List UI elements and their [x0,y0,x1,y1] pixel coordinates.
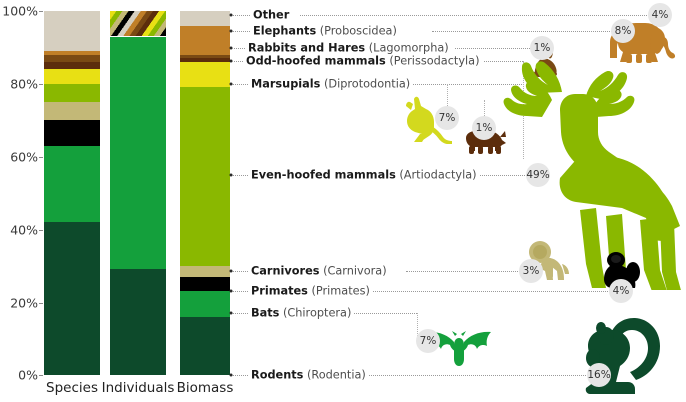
y-tick-20 [39,303,43,304]
label-other: Other [250,9,292,22]
bar-segment-primates[interactable] [44,120,100,145]
leader-stub-other [232,15,250,16]
y-tick-80 [39,84,43,85]
label-rodents-name: Rodents [251,369,303,382]
label-rabbits-name: Rabbits and Hares [248,42,365,55]
bar-segment-bats[interactable] [44,146,100,222]
badge-elephants: 8% [611,19,635,43]
leader-primates [372,291,610,292]
label-elephants-paren: (Proboscidea) [320,25,397,38]
y-tick-label-100: 100% [2,4,38,19]
bar-segment-elephants[interactable] [180,26,230,55]
bar-individuals[interactable] [110,11,166,375]
badge-primates: 4% [609,279,633,303]
bar-segment-minor-group[interactable] [110,11,166,36]
leader-stub-marsupials [232,84,248,85]
label-marsupials-name: Marsupials [251,78,320,91]
bar-segment-carnivores[interactable] [180,266,230,277]
leader-stub-rabbits [232,48,245,49]
label-primates: Primates (Primates) [248,285,373,298]
bar-segment-even-hoofed-mammals[interactable] [180,87,230,265]
label-carnivores: Carnivores (Carnivora) [248,265,390,278]
leader-stub-carnivores [232,271,248,272]
label-elephants: Elephants (Proboscidea) [250,25,400,38]
leader-stub-oddhoofed [232,61,243,62]
label-evenhoofed-paren: (Artiodactyla) [399,169,476,182]
label-rodents: Rodents (Rodentia) [248,369,369,382]
y-tick-40 [39,230,43,231]
deer-icon [470,22,686,290]
leader-stub-elephants [232,31,250,32]
bar-title-individuals: Individuals [102,380,175,396]
bar-segment-marsupials[interactable] [180,62,230,87]
bar-species[interactable] [44,11,100,375]
bar-segment-bats[interactable] [110,37,166,270]
badge-carnivores: 3% [519,259,543,283]
leader-stub-rodents [232,375,248,376]
label-carnivores-name: Carnivores [251,265,319,278]
label-rabbits-paren: (Lagomorpha) [369,42,449,55]
infographic-root: 100% 80% 60% 40% 20% 0% Species Individu… [0,0,686,402]
leader-rodents [360,375,586,376]
bar-segment-other[interactable] [44,11,100,51]
y-tick-label-80: 80% [10,77,38,92]
label-other-name: Other [253,9,289,22]
leader-bats [347,313,417,314]
leader-other [300,15,647,16]
label-oddhoofed: Odd-hoofed mammals (Perissodactyla) [243,55,483,68]
y-tick-label-20: 20% [10,296,38,311]
y-tick-100 [39,11,43,12]
y-axis: 100% 80% 60% 40% 20% 0% [0,0,38,402]
label-primates-name: Primates [251,285,308,298]
y-tick-label-0: 0% [18,368,38,383]
bar-segment-carnivores[interactable] [44,102,100,120]
badge-other: 4% [648,3,672,27]
bar-segment-odd-hoofed-mammals[interactable] [44,62,100,69]
label-elephants-name: Elephants [253,25,316,38]
leader-stub-bats [232,313,248,314]
badge-rodents: 16% [587,363,611,387]
label-rabbits: Rabbits and Hares (Lagomorpha) [245,42,452,55]
bar-biomass[interactable] [180,11,230,375]
label-marsupials: Marsupials (Diprotodontia) [248,78,413,91]
y-tick-0 [39,375,43,376]
bar-segment-rodents[interactable] [44,222,100,375]
y-tick-label-60: 60% [10,150,38,165]
bar-segment-bats[interactable] [180,291,230,316]
label-bats-name: Bats [251,307,279,320]
bar-segment-elephants[interactable] [44,51,100,55]
badge-marsupials: 7% [435,106,459,130]
label-bats: Bats (Chiroptera) [248,307,354,320]
bar-segment-rodents[interactable] [180,317,230,375]
bar-segment-rodents[interactable] [110,269,166,375]
label-oddhoofed-name: Odd-hoofed mammals [246,55,386,68]
bar-segment-other[interactable] [180,11,230,26]
badge-evenhoofed: 49% [526,163,550,187]
bar-title-species: Species [46,380,98,396]
bar-segment-marsupials[interactable] [44,69,100,84]
bar-segment-odd-hoofed-mammals[interactable] [180,58,230,62]
label-evenhoofed-name: Even-hoofed mammals [251,169,396,182]
bar-segment-rabbits-and-hares[interactable] [44,55,100,62]
label-oddhoofed-paren: (Perissodactyla) [389,55,479,68]
badge-bats: 7% [416,329,440,353]
y-tick-label-40: 40% [10,223,38,238]
leader-stub-evenhoofed [232,175,248,176]
badge-rabbits: 1% [530,36,554,60]
label-marsupials-paren: (Diprotodontia) [324,78,410,91]
label-carnivores-paren: (Carnivora) [323,265,387,278]
label-bats-paren: (Chiroptera) [283,307,351,320]
bar-segment-primates[interactable] [180,277,230,292]
label-evenhoofed: Even-hoofed mammals (Artiodactyla) [248,169,480,182]
label-rodents-paren: (Rodentia) [307,369,366,382]
bar-title-biomass: Biomass [177,380,234,396]
y-tick-60 [39,157,43,158]
bar-segment-even-hoofed-mammals[interactable] [44,84,100,102]
label-primates-paren: (Primates) [312,285,370,298]
leader-stub-primates [232,291,248,292]
badge-oddhoofed: 1% [472,116,496,140]
bar-segment-rabbits-and-hares[interactable] [180,55,230,59]
